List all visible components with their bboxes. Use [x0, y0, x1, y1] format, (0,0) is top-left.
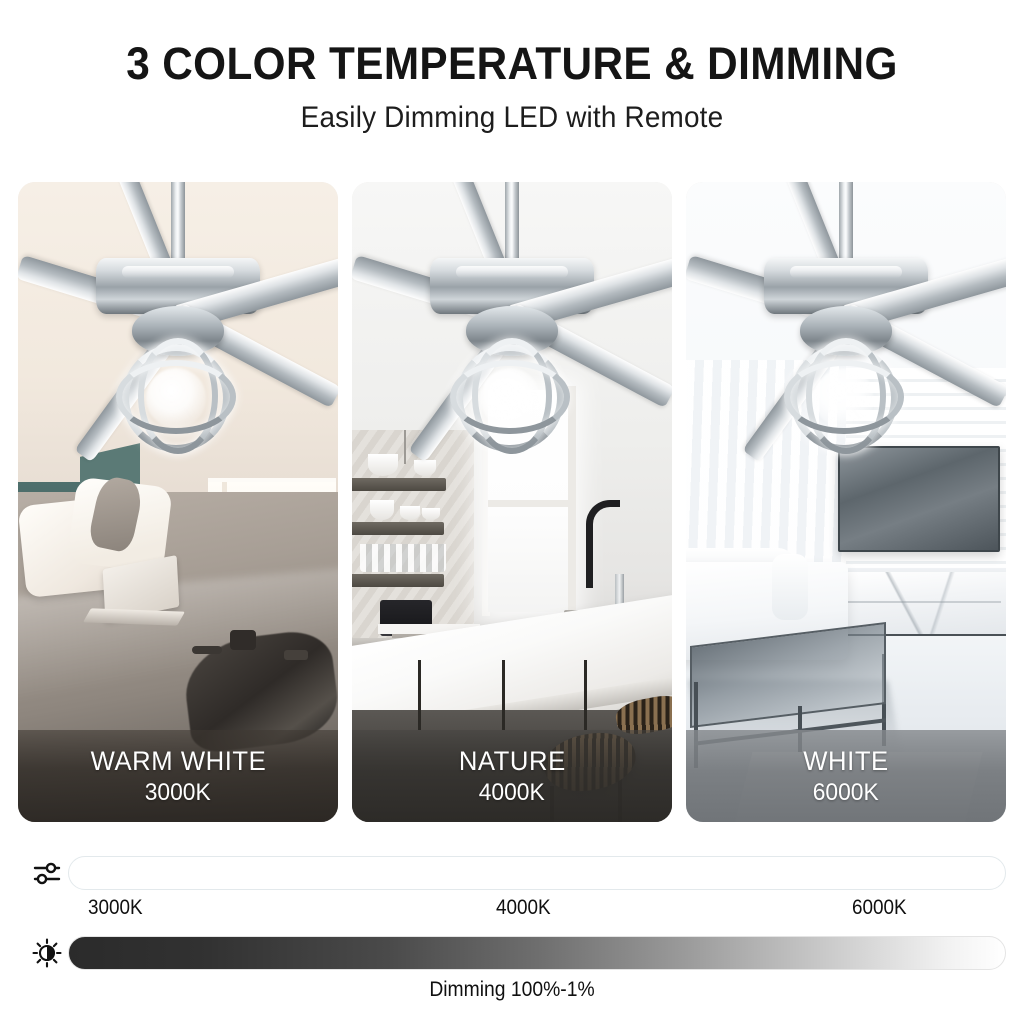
chrome-ring — [450, 360, 570, 434]
bedside-object — [230, 630, 256, 650]
open-shelf — [352, 574, 444, 587]
sofa-arm — [772, 554, 808, 620]
color-temperature-slider[interactable] — [68, 856, 1006, 890]
dimming-caption: Dimming 100%-1% — [41, 978, 983, 1002]
panel-label-nature: NATURE 4000K — [352, 730, 672, 822]
tick-label-6000k: 6000K — [852, 896, 907, 920]
open-shelf — [352, 522, 444, 535]
panel-nature[interactable]: NATURE 4000K — [352, 182, 672, 822]
panel-label-name: NATURE — [459, 747, 566, 775]
island-post — [584, 660, 587, 730]
bowl — [370, 500, 394, 520]
fan-downrod — [505, 182, 519, 262]
tick-label-4000k: 4000K — [496, 896, 551, 920]
hanging-glassware — [360, 544, 446, 572]
dimming-row — [0, 932, 1024, 974]
led-light-kit — [116, 338, 240, 458]
bedside-object — [284, 650, 308, 660]
color-temperature-panels: WARM WHITE 3000K — [18, 182, 1008, 822]
panel-label-warm-white: WARM WHITE 3000K — [18, 730, 338, 822]
color-temperature-row — [0, 852, 1024, 894]
control-bars: 3000K 4000K 6000K — [0, 852, 1024, 1002]
panel-warm-white[interactable]: WARM WHITE 3000K — [18, 182, 338, 822]
pendant-cord — [404, 430, 406, 464]
led-light-kit — [784, 338, 908, 458]
panel-label-name: WHITE — [803, 747, 889, 775]
panel-white[interactable]: WHITE 6000K — [686, 182, 1006, 822]
panel-label-white: WHITE 6000K — [686, 730, 1006, 822]
dimming-slider[interactable] — [68, 936, 1006, 970]
chrome-ring — [116, 360, 236, 434]
panel-label-kelvin: 6000K — [813, 780, 879, 805]
television — [838, 446, 1000, 552]
tick-label-3000k: 3000K — [88, 896, 143, 920]
led-light-kit — [450, 338, 574, 458]
panel-label-name: WARM WHITE — [90, 747, 266, 775]
color-temperature-tick-labels: 3000K 4000K 6000K — [0, 896, 1024, 924]
island-post — [502, 660, 505, 730]
bowl — [422, 508, 440, 520]
window-mullion — [488, 500, 570, 507]
open-shelf — [352, 478, 446, 491]
island-post — [418, 660, 421, 730]
sliders-icon — [26, 854, 68, 892]
panel-label-kelvin: 4000K — [479, 780, 545, 805]
header: 3 COLOR TEMPERATURE & DIMMING Easily Dim… — [0, 0, 1024, 135]
chrome-ring — [784, 360, 904, 434]
panel-label-kelvin: 3000K — [145, 780, 211, 805]
product-feature-page: 3 COLOR TEMPERATURE & DIMMING Easily Dim… — [0, 0, 1024, 1024]
bedside-object — [192, 646, 222, 654]
bowl — [400, 506, 420, 520]
page-title: 3 COLOR TEMPERATURE & DIMMING — [31, 40, 994, 87]
page-subtitle: Easily Dimming LED with Remote — [36, 101, 988, 135]
fan-downrod — [839, 182, 853, 262]
brightness-icon — [26, 934, 68, 972]
fan-downrod — [171, 182, 185, 262]
bowl — [368, 454, 398, 476]
bowl — [414, 460, 436, 476]
